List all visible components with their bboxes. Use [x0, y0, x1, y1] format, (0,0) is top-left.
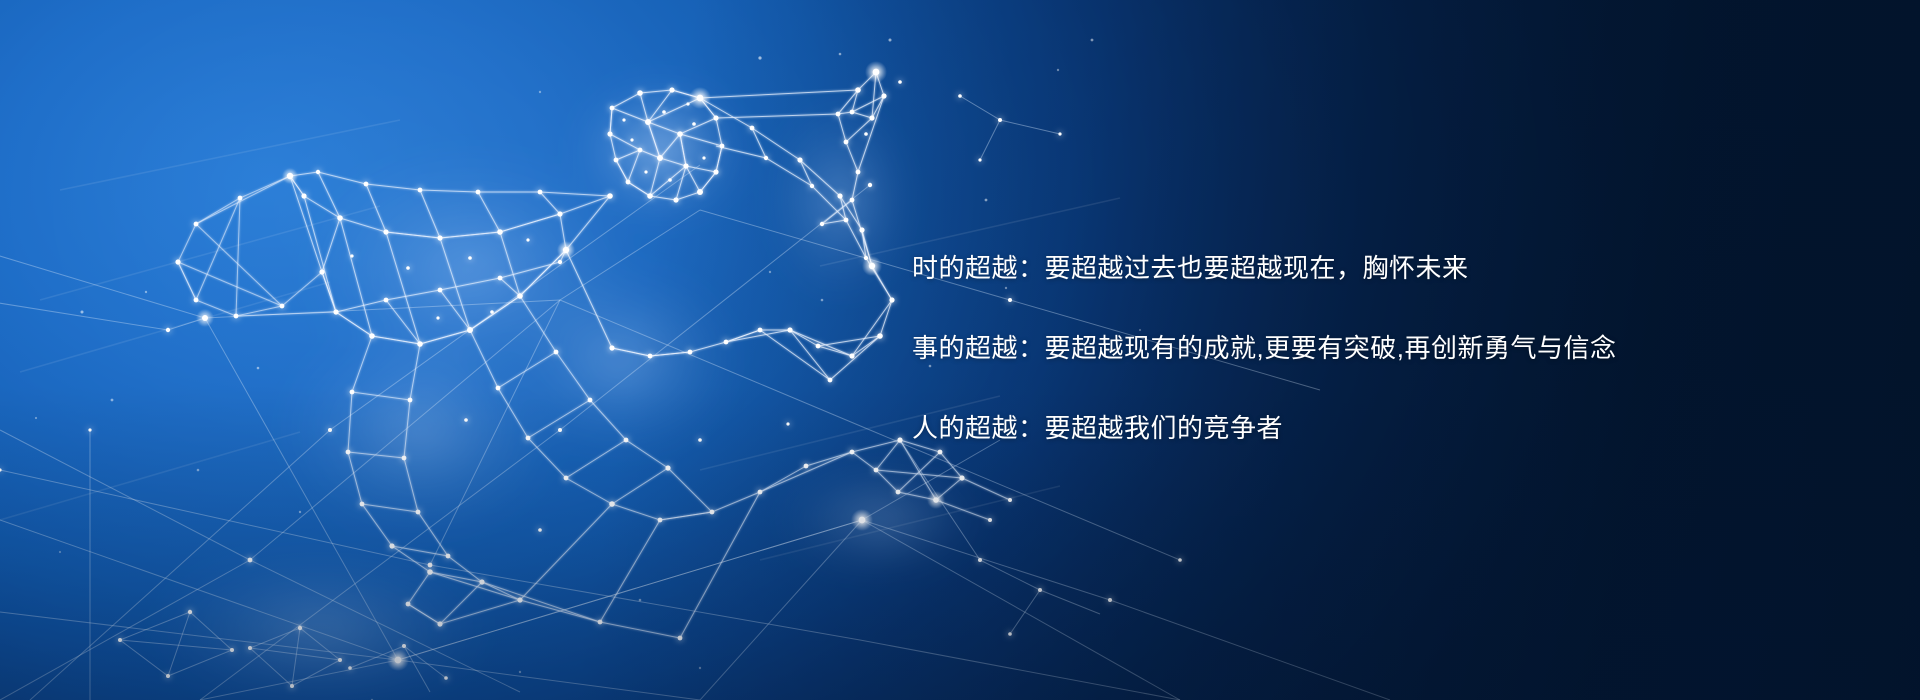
tagline-line-2: 事的超越：要超越现有的成就,更要有突破,再创新勇气与信念 [912, 308, 1692, 388]
tagline-line-3: 人的超越：要超越我们的竞争者 [912, 388, 1692, 468]
hero-banner: 时的超越：要超越过去也要超越现在，胸怀未来 事的超越：要超越现有的成就,更要有突… [0, 0, 1920, 700]
tagline-block: 时的超越：要超越过去也要超越现在，胸怀未来 事的超越：要超越现有的成就,更要有突… [912, 228, 1692, 468]
tagline-line-1: 时的超越：要超越过去也要超越现在，胸怀未来 [912, 228, 1692, 308]
